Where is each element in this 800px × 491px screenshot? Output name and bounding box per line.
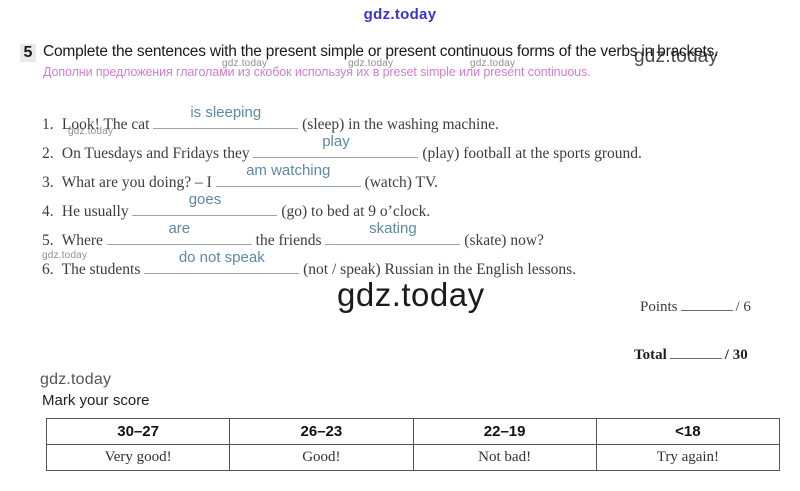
- answer-text: goes: [132, 186, 277, 214]
- watermark-top: gdz.today: [0, 6, 800, 23]
- answer-text: skating: [325, 215, 460, 243]
- answer-text: are: [107, 215, 252, 243]
- task-instruction-english: Complete the sentences with the present …: [43, 42, 780, 61]
- answer-blank[interactable]: am watching: [216, 168, 361, 187]
- answer-blank[interactable]: is sleeping: [153, 110, 298, 129]
- score-verdict-cell: Not bad!: [413, 445, 596, 471]
- task-instruction-russian: Дополни предложения глаголами из скобок …: [43, 64, 780, 80]
- answer-blank-secondary[interactable]: skating: [325, 226, 460, 245]
- exercise-text-after: (skate) now?: [464, 232, 544, 249]
- answer-text: do not speak: [144, 244, 299, 272]
- answer-blank[interactable]: do not speak: [144, 255, 299, 274]
- table-row-ranges: 30–27 26–23 22–19 <18: [47, 419, 780, 445]
- exercise-index: 5.: [42, 227, 58, 255]
- exercise-index: 1.: [42, 111, 58, 139]
- exercise-text-before: The students: [62, 261, 141, 278]
- exercise-text-after: (not / speak) Russian in the English les…: [303, 261, 576, 278]
- score-range-cell: <18: [596, 419, 779, 445]
- score-table: 30–27 26–23 22–19 <18 Very good! Good! N…: [46, 418, 780, 471]
- exercise-text-before: Look! The cat: [62, 116, 150, 133]
- exercise-item-6: 6. The students do not speak (not / spea…: [42, 255, 792, 284]
- exercise-index: 2.: [42, 140, 58, 168]
- score-verdict-cell: Good!: [230, 445, 413, 471]
- score-range-cell: 22–19: [413, 419, 596, 445]
- exercise-index: 3.: [42, 169, 58, 197]
- mark-your-score-title: Mark your score: [42, 392, 150, 409]
- total-blank[interactable]: [670, 346, 722, 359]
- score-range-cell: 30–27: [47, 419, 230, 445]
- points-max: / 6: [736, 299, 751, 315]
- answer-text: play: [253, 128, 418, 156]
- total-label: Total: [634, 347, 667, 363]
- exercise-item-2: 2. On Tuesdays and Fridays they play (pl…: [42, 139, 792, 168]
- exercise-list: 1. Look! The cat is sleeping (sleep) in …: [42, 110, 792, 284]
- answer-text: is sleeping: [153, 99, 298, 127]
- exercise-text-after: (play) football at the sports ground.: [422, 145, 642, 162]
- exercise-text-after: (watch) TV.: [365, 174, 438, 191]
- exercise-text-before: Where: [62, 232, 103, 249]
- total-row: Total/ 30: [634, 346, 748, 364]
- points-row: Points/ 6: [640, 298, 751, 316]
- table-row-verdicts: Very good! Good! Not bad! Try again!: [47, 445, 780, 471]
- answer-blank[interactable]: play: [253, 139, 418, 158]
- total-max: / 30: [725, 347, 748, 363]
- score-verdict-cell: Very good!: [47, 445, 230, 471]
- answer-blank[interactable]: goes: [132, 197, 277, 216]
- task-number: 5: [20, 44, 36, 62]
- answer-text: am watching: [216, 157, 361, 185]
- watermark-score-area: gdz.today: [40, 371, 111, 389]
- task-header: 5 Complete the sentences with the presen…: [20, 42, 780, 80]
- exercise-index: 4.: [42, 198, 58, 226]
- points-blank[interactable]: [681, 298, 733, 311]
- exercise-index: 6.: [42, 256, 58, 284]
- answer-blank[interactable]: are: [107, 226, 252, 245]
- points-label: Points: [640, 299, 678, 315]
- score-verdict-cell: Try again!: [596, 445, 779, 471]
- score-range-cell: 26–23: [230, 419, 413, 445]
